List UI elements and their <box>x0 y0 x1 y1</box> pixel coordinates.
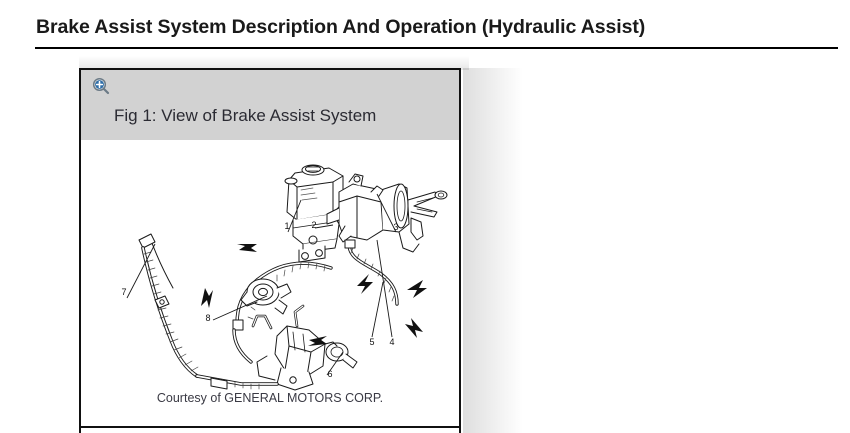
callout-3: 3 <box>393 222 398 232</box>
figure-illustration: 1 2 3 4 5 6 7 8 <box>81 140 459 391</box>
figure-caption-title: Fig 1: View of Brake Assist System <box>114 106 376 126</box>
callout-6: 6 <box>327 369 332 379</box>
callout-8: 8 <box>205 313 210 323</box>
magnifier-plus-icon[interactable] <box>92 77 110 95</box>
callout-2: 2 <box>311 220 316 230</box>
callout-5: 5 <box>369 337 374 347</box>
callout-1: 1 <box>284 221 289 231</box>
figure-frame-bottom-edge <box>79 426 461 428</box>
figure-header-bar: Fig 1: View of Brake Assist System <box>81 70 459 140</box>
page-title: Brake Assist System Description And Oper… <box>36 16 645 39</box>
callout-7: 7 <box>121 287 126 297</box>
callout-4: 4 <box>389 337 394 347</box>
title-divider <box>35 47 838 49</box>
figure-frame: Fig 1: View of Brake Assist System <box>79 68 461 433</box>
callout-leader-lines: 1 2 3 4 5 6 7 8 <box>81 140 459 391</box>
figure-frame-shadow <box>463 68 523 433</box>
figure-courtesy-caption: Courtesy of GENERAL MOTORS CORP. <box>81 391 459 405</box>
